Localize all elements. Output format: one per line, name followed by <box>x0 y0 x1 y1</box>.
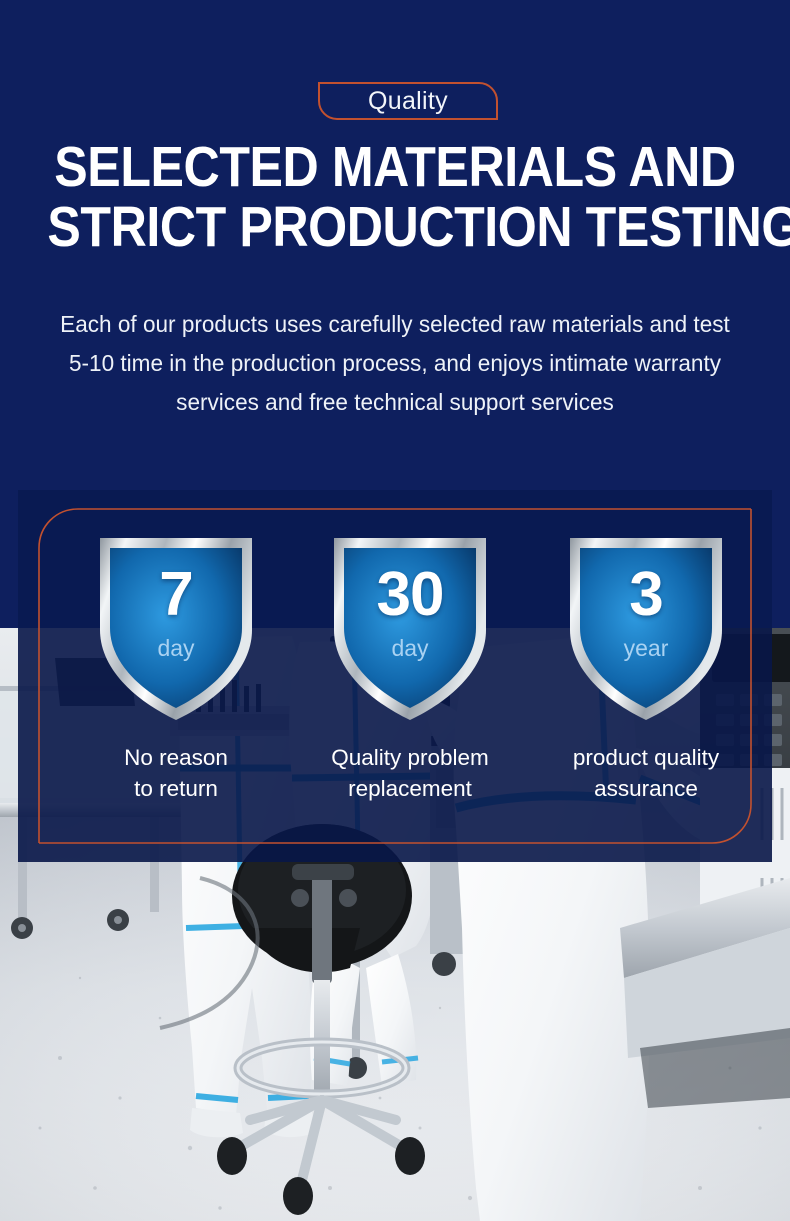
guarantee-caption: product quality assurance <box>526 742 766 804</box>
quality-badge-label: Quality <box>368 89 448 114</box>
guarantee-caption-line-2: to return <box>56 773 296 804</box>
headline-line-1: SELECTED MATERIALS AND <box>47 137 742 197</box>
guarantee-shield: 30 day <box>330 534 490 724</box>
guarantee-caption-line-1: No reason <box>56 742 296 773</box>
guarantee-caption-line-1: product quality <box>526 742 766 773</box>
quality-badge: Quality <box>318 82 498 120</box>
guarantee-unit: year <box>566 637 726 660</box>
guarantee-number: 30 <box>330 564 490 626</box>
guarantee-caption: Quality problem replacement <box>290 742 530 804</box>
guarantee-number: 7 <box>96 564 256 626</box>
guarantee-captions: No reason to return Quality problem repl… <box>18 742 772 812</box>
promo-banner: Quality SELECTED MATERIALS AND STRICT PR… <box>0 0 790 1221</box>
guarantee-caption-line-2: replacement <box>290 773 530 804</box>
page-title: SELECTED MATERIALS AND STRICT PRODUCTION… <box>47 137 742 257</box>
guarantee-number: 3 <box>566 564 726 626</box>
guarantee-shield-row: 7 day <box>18 534 772 734</box>
guarantee-shield: 3 year <box>566 534 726 724</box>
guarantee-unit: day <box>96 637 256 660</box>
guarantee-caption-line-2: assurance <box>526 773 766 804</box>
intro-paragraph: Each of our products uses carefully sele… <box>54 305 736 422</box>
headline-line-2: STRICT PRODUCTION TESTING <box>47 197 742 257</box>
guarantee-caption: No reason to return <box>56 742 296 804</box>
guarantee-unit: day <box>330 637 490 660</box>
guarantee-caption-line-1: Quality problem <box>290 742 530 773</box>
guarantee-shield: 7 day <box>96 534 256 724</box>
